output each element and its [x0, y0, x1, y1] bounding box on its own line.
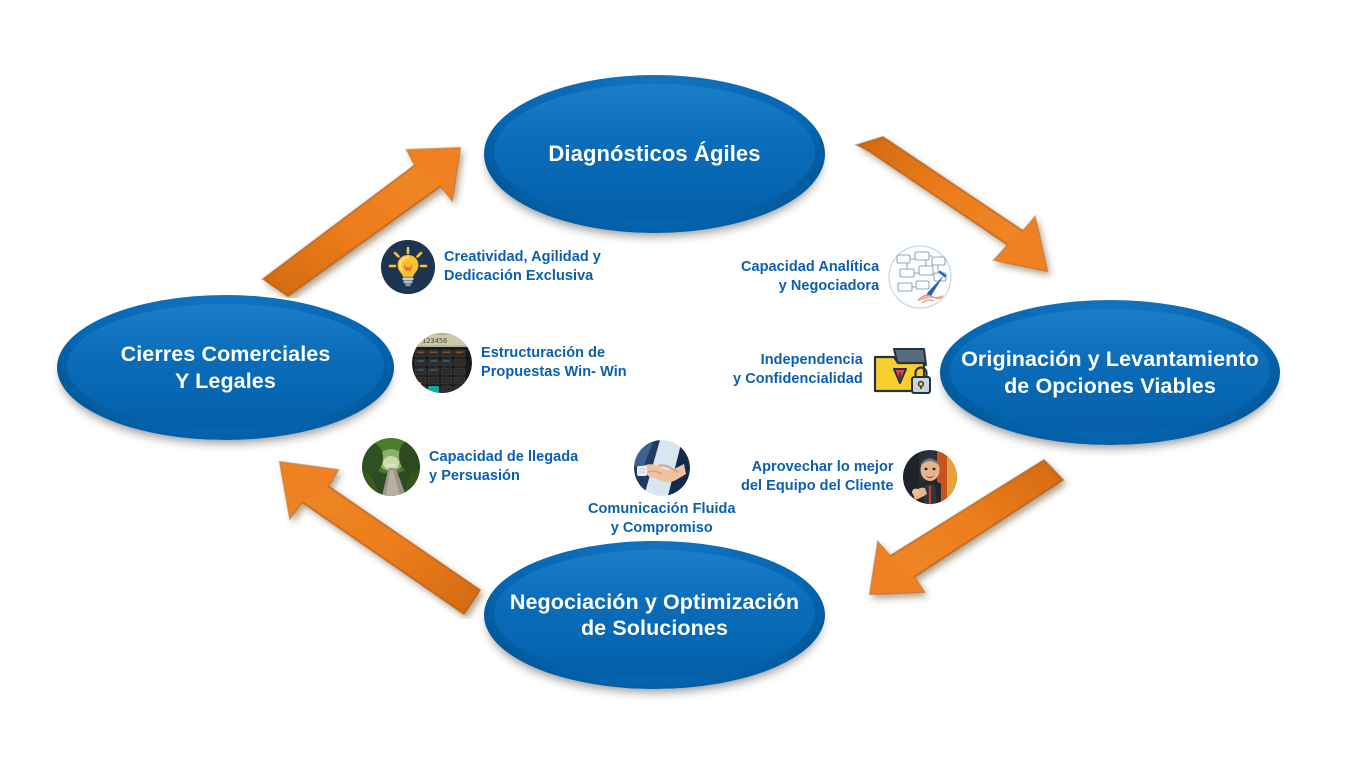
stage-node-negociacion-optimizacion[interactable]: Negociación y Optimizaciónde Soluciones — [484, 541, 825, 689]
capability-label: Aprovechar lo mejor del Equipo del Clien… — [741, 458, 894, 496]
flowchart-sketch-icon — [888, 245, 952, 309]
capability-capacidad-llegada[interactable]: Capacidad de llegada y Persuasión — [362, 438, 578, 496]
forest-path-icon — [362, 438, 420, 496]
lightbulb-icon — [381, 240, 435, 294]
capability-label: Independencia y Confidencialidad — [733, 351, 863, 389]
stage-label: Cierres ComercialesY Legales — [121, 341, 331, 393]
stage-node-cierres-comerciales[interactable]: Cierres ComercialesY Legales — [57, 295, 394, 440]
capability-comunicacion-fluida[interactable]: Comunicación Fluida y Compromiso — [588, 440, 736, 538]
capability-estructuracion-propuestas[interactable]: 123456 — [412, 333, 627, 393]
capability-label: Capacidad de llegada y Persuasión — [429, 448, 578, 486]
handshake-icon — [634, 440, 690, 496]
stage-label: Originación y Levantamientode Opciones V… — [961, 346, 1259, 398]
process-cycle-diagram: Diagnósticos Ágiles Originación y Levant… — [0, 0, 1366, 768]
svg-text:123456: 123456 — [422, 337, 447, 345]
capability-label: Capacidad Analítica y Negociadora — [741, 258, 879, 296]
stage-label: Diagnósticos Ágiles — [548, 141, 760, 168]
stage-node-originacion-opciones[interactable]: Originación y Levantamientode Opciones V… — [940, 300, 1280, 445]
capability-label: Comunicación Fluida y Compromiso — [588, 500, 736, 538]
capability-independencia-confidencialidad[interactable]: Independencia y Confidencialidad — [733, 345, 934, 395]
stage-label: Negociación y Optimizaciónde Soluciones — [510, 589, 799, 641]
capability-capacidad-analitica[interactable]: Capacidad Analítica y Negociadora — [741, 245, 952, 309]
capability-aprovechar-equipo-cliente[interactable]: Aprovechar lo mejor del Equipo del Clien… — [741, 450, 957, 504]
stage-node-diagnosticos-agiles[interactable]: Diagnósticos Ágiles — [484, 75, 825, 233]
calculator-icon: 123456 — [412, 333, 472, 393]
folder-lock-icon — [872, 345, 934, 395]
capability-label: Creatividad, Agilidad y Dedicación Exclu… — [444, 248, 601, 286]
coach-person-icon — [903, 450, 957, 504]
capability-label: Estructuración de Propuestas Win- Win — [481, 344, 627, 382]
capability-creatividad[interactable]: Creatividad, Agilidad y Dedicación Exclu… — [381, 240, 601, 294]
